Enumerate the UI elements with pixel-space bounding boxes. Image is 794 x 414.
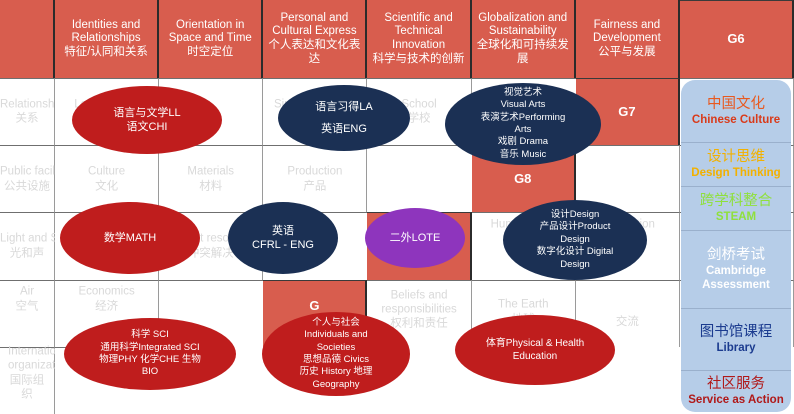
bubble-english-cfrl-line-1: 英语 [272,224,294,238]
ghost-g6-identities-zh: 关系 [0,112,54,126]
ghost-g8-personal-cultural: Light and Sound 光和声 [0,232,54,261]
ghost-g7-orientation: Public facilities 公共设施 [0,165,54,194]
cell-g7-fairness[interactable] [367,145,471,212]
ghost-g6-identities-en: Relationship [0,99,63,111]
ghost-g7-personal-cultural: Culture 文化 [55,165,158,194]
header-col-personal-cultural-zh: 个人表达和文化表达 [266,39,362,66]
row-label-g10-line1: G [307,299,321,313]
bubble-lote-line-1: 二外LOTE [390,231,441,245]
bubble-science-line-1: 科学 SCI [131,329,168,341]
sidebar-item-chinese-culture-zh: 中国文化 [707,95,765,113]
header-col-personal-cultural-en: Personal and Cultural Express [266,12,362,39]
sidebar-item-cambridge-assessment[interactable]: 剑桥考试 Cambridge Assessment [681,230,791,308]
header-col-scientific-en: Scientific and Technical Innovation [370,12,466,53]
ghost-g7-orientation-zh: 公共设施 [0,179,54,193]
cell-g6-identities[interactable]: Relationship 关系 [0,78,55,145]
sidebar-item-service-as-action-zh: 社区服务 [707,375,765,393]
bubble-lote[interactable]: 二外LOTE [365,208,465,268]
sidebar-item-chinese-culture-en: Chinese Culture [692,113,780,127]
bubble-arts-line-2: Visual Arts [501,99,546,111]
bubble-chinese-language[interactable]: 语言与文学LL 语文CHI [72,86,222,154]
header-col-fairness-zh: 公平与发展 [598,46,656,60]
header-col-globalization[interactable]: Globalization and Sustainability 全球化和可持续… [472,0,576,78]
ghost-g10-globalization: International organization 国际组织 [0,344,54,402]
header-col-globalization-en: Globalization and Sustainability [475,12,571,39]
bubble-science-line-4: BIO [142,366,158,378]
header-col-identities-zh: 特征/认同和关系 [64,46,148,60]
header-col-personal-cultural[interactable]: Personal and Cultural Express 个人表达和文化表达 [263,0,367,78]
bubble-chinese-language-line-1: 语言与文学LL [113,106,180,120]
ghost-g10-orientation-en: The Earth [498,299,549,311]
bubble-individuals-societies[interactable]: 个人与社会 Individuals and Societies 思想品德 Civ… [262,312,410,396]
bubble-individuals-societies-line-4: 思想品德 Civics [303,354,369,366]
ghost-g10-globalization-zh: 国际组织 [8,373,46,402]
bubble-science-line-2: 通用科学Integrated SCI [100,342,199,354]
header-col-fairness[interactable]: Fairness and Development 公平与发展 [576,0,680,78]
ghost-g9-scientific: Air 空气 [0,285,54,314]
bubble-science-line-3: 物理PHY 化学CHE 生物 [99,354,201,366]
header-col-fairness-en: Fairness and Development [579,19,675,46]
bubble-arts-line-3: 表演艺术Performing [481,112,565,124]
bubble-language-acquisition-line-1: 语言习得LA [315,100,372,114]
header-corner [0,0,55,78]
sidebar-item-steam[interactable]: 跨学科整合 STEAM [681,186,791,230]
ghost-g10-identities-en: Beliefs and responsibilities [381,289,456,315]
ghost-g8-personal-cultural-zh: 光和声 [0,246,54,260]
header-col-globalization-zh: 全球化和可持续发展 [475,39,571,66]
cell-g7-scientific[interactable]: Materials 材料 [159,145,263,212]
header-col-scientific-zh: 科学与技术的创新 [373,53,465,67]
ghost-g7-scientific: Materials 材料 [159,165,262,194]
sidebar-item-cambridge-assessment-en: Cambridge Assessment [681,264,791,293]
bubble-science[interactable]: 科学 SCI 通用科学Integrated SCI 物理PHY 化学CHE 生物… [64,318,236,390]
bubble-arts-line-1: 视觉艺术 [504,87,542,99]
bubble-design[interactable]: 设计Design 产品设计Product Design 数字化设计 Digita… [503,200,647,280]
sidebar-programs-panel: 中国文化 Chinese Culture 设计思维 Design Thinkin… [681,80,791,412]
bubble-english-cfrl[interactable]: 英语 CFRL - ENG [228,202,338,274]
cell-g10-globalization[interactable]: International organization 国际组织 [0,347,55,414]
sidebar-item-steam-en: STEAM [716,210,756,224]
bubble-individuals-societies-line-3: Societies [317,342,356,354]
sidebar-item-library-en: Library [717,341,756,355]
ghost-g7-personal-cultural-en: Culture [88,166,125,178]
bubble-language-acquisition[interactable]: 语言习得LA 英语ENG [278,85,410,151]
cell-g8-personal-cultural[interactable]: Light and Sound 光和声 [0,212,55,279]
ghost-g7-globalization-en: Production [287,166,342,178]
ghost-g9-globalization-en: Economics [78,286,134,298]
bubble-arts-line-4: Arts [515,124,532,136]
bubble-arts-line-5: 戏剧 Drama [498,136,548,148]
bubble-math-line-1: 数学MATH [104,231,156,245]
sidebar-item-library[interactable]: 图书馆课程 Library [681,308,791,370]
ghost-g7-globalization: Production 产品 [263,165,366,194]
bubble-individuals-societies-line-2: Individuals and [304,329,367,341]
bubble-physical-health[interactable]: 体育Physical & Health Education [455,315,615,385]
cell-g7-orientation[interactable]: Public facilities 公共设施 [0,145,55,212]
bubble-individuals-societies-line-5: 历史 History 地理 [300,366,373,378]
bubble-arts-line-6: 音乐 Music [500,149,546,161]
sidebar-item-library-zh: 图书馆课程 [700,323,773,341]
bubble-language-acquisition-line-2: 英语ENG [321,122,367,136]
header-col-orientation-en: Orientation in Space and Time [162,19,258,46]
ghost-g9-scientific-zh: 空气 [0,299,54,313]
sidebar-item-design-thinking[interactable]: 设计思维 Design Thinking [681,142,791,186]
sidebar-item-design-thinking-en: Design Thinking [691,166,780,180]
bubble-physical-health-line-2: Education [513,350,557,363]
header-col-orientation[interactable]: Orientation in Space and Time 时空定位 [159,0,263,78]
bubble-individuals-societies-line-6: Geography [312,379,359,391]
bubble-individuals-societies-line-1: 个人与社会 [312,317,360,329]
ghost-g9-globalization-zh: 经济 [55,299,158,313]
header-col-scientific[interactable]: Scientific and Technical Innovation 科学与技… [367,0,471,78]
ghost-g7-scientific-zh: 材料 [159,179,262,193]
ghost-g9-globalization: Economics 经济 [55,285,158,314]
bubble-chinese-language-line-2: 语文CHI [127,120,168,134]
ghost-g6-identities: Relationship 关系 [0,98,54,127]
ghost-g7-personal-cultural-zh: 文化 [55,179,158,193]
header-col-identities-en: Identities and Relationships [58,19,154,46]
sidebar-item-steam-zh: 跨学科整合 [700,192,773,210]
ghost-g7-scientific-en: Materials [187,166,234,178]
bubble-english-cfrl-line-2: CFRL - ENG [252,238,314,252]
header-col-identities[interactable]: Identities and Relationships 特征/认同和关系 [55,0,159,78]
bubble-design-line-3: Design [560,234,590,246]
bubble-physical-health-line-1: 体育Physical & Health [486,337,584,350]
curriculum-matrix: Identities and Relationships 特征/认同和关系 Or… [0,0,794,414]
bubble-arts[interactable]: 视觉艺术 Visual Arts 表演艺术Performing Arts 戏剧 … [445,83,601,165]
bubble-design-line-1: 设计Design [551,209,600,221]
ghost-g7-globalization-zh: 产品 [263,179,366,193]
bubble-design-line-4: 数字化设计 Digital [537,246,614,258]
cell-g9-scientific[interactable]: Air 空气 [0,280,55,347]
sidebar-item-service-as-action-en: Service as Action [688,393,783,407]
row-label-g6: G6 [680,0,794,78]
sidebar-item-service-as-action[interactable]: 社区服务 Service as Action [681,370,791,412]
sidebar-item-design-thinking-zh: 设计思维 [707,148,765,166]
bubble-math[interactable]: 数学MATH [60,202,200,274]
bubble-design-line-2: 产品设计Product [540,221,611,233]
bubble-design-line-5: Design [560,259,590,271]
sidebar-item-cambridge-assessment-zh: 剑桥考试 [707,246,765,264]
sidebar-item-chinese-culture[interactable]: 中国文化 Chinese Culture [681,80,791,142]
ghost-g9-scientific-en: Air [20,286,34,298]
header-col-orientation-zh: 时空定位 [187,46,233,60]
